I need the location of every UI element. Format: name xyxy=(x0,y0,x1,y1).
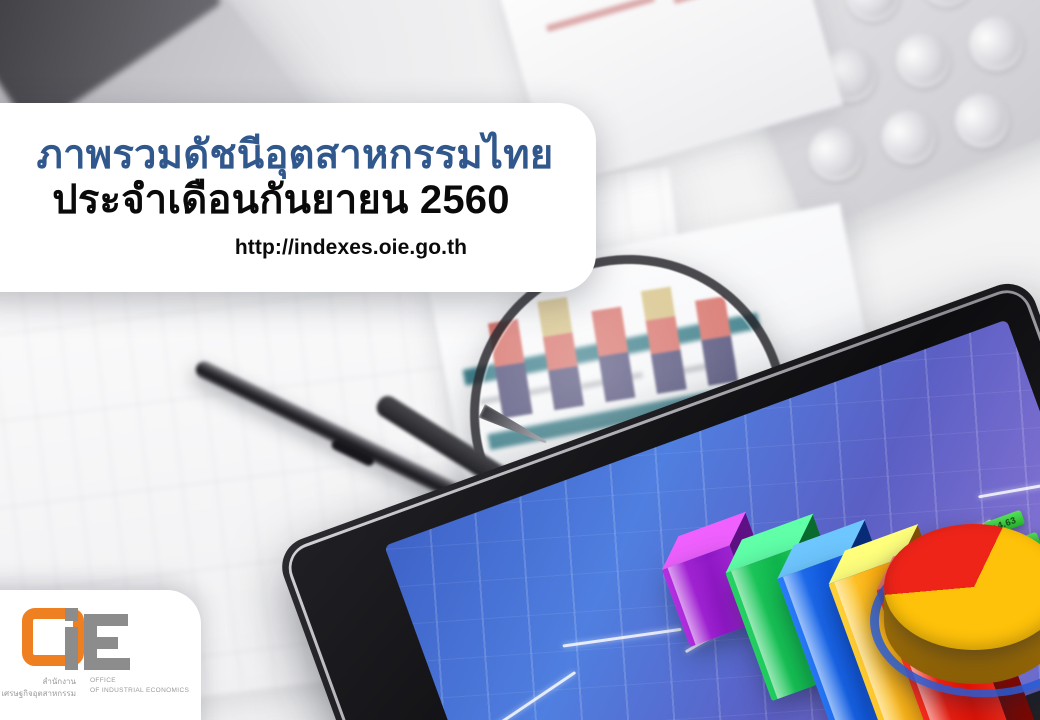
cover-slide: +4.63 +7.47 ภาพรวมดัชนีอุตสาหกรรมไทย ประ… xyxy=(0,0,1040,720)
logo-english-name: Office of Industrial Economics xyxy=(90,676,189,696)
logo-english-line-1: Office xyxy=(90,676,189,686)
page-title-line-2: ประจำเดือนกันยายน 2560 xyxy=(52,178,509,224)
logo-thai-line-2: เศรษฐกิจอุตสาหกรรม xyxy=(0,688,76,700)
logo-thai-line-1: สำนักงาน xyxy=(0,676,76,688)
logo-wordmark: สำนักงาน เศรษฐกิจอุตสาหกรรม Office of In… xyxy=(0,676,182,699)
logo-english-line-2: of Industrial Economics xyxy=(90,686,189,696)
logo-card: สำนักงาน เศรษฐกิจอุตสาหกรรม Office of In… xyxy=(0,590,201,720)
title-card: ภาพรวมดัชนีอุตสาหกรรมไทย ประจำเดือนกันยา… xyxy=(0,103,596,292)
logo-i-dot xyxy=(65,608,78,621)
logo-e-bottom-arm xyxy=(84,658,130,670)
logo-i-stem xyxy=(65,627,78,670)
oie-logo-icon xyxy=(22,608,130,670)
page-title-line-1: ภาพรวมดัชนีอุตสาหกรรมไทย xyxy=(37,133,554,178)
logo-e-top-arm xyxy=(84,614,128,626)
three-d-pie-chart xyxy=(874,494,1040,694)
logo-thai-name: สำนักงาน เศรษฐกิจอุตสาหกรรม xyxy=(0,676,76,699)
logo-e-middle-arm xyxy=(84,637,118,649)
website-url[interactable]: http://indexes.oie.go.th xyxy=(235,236,467,260)
